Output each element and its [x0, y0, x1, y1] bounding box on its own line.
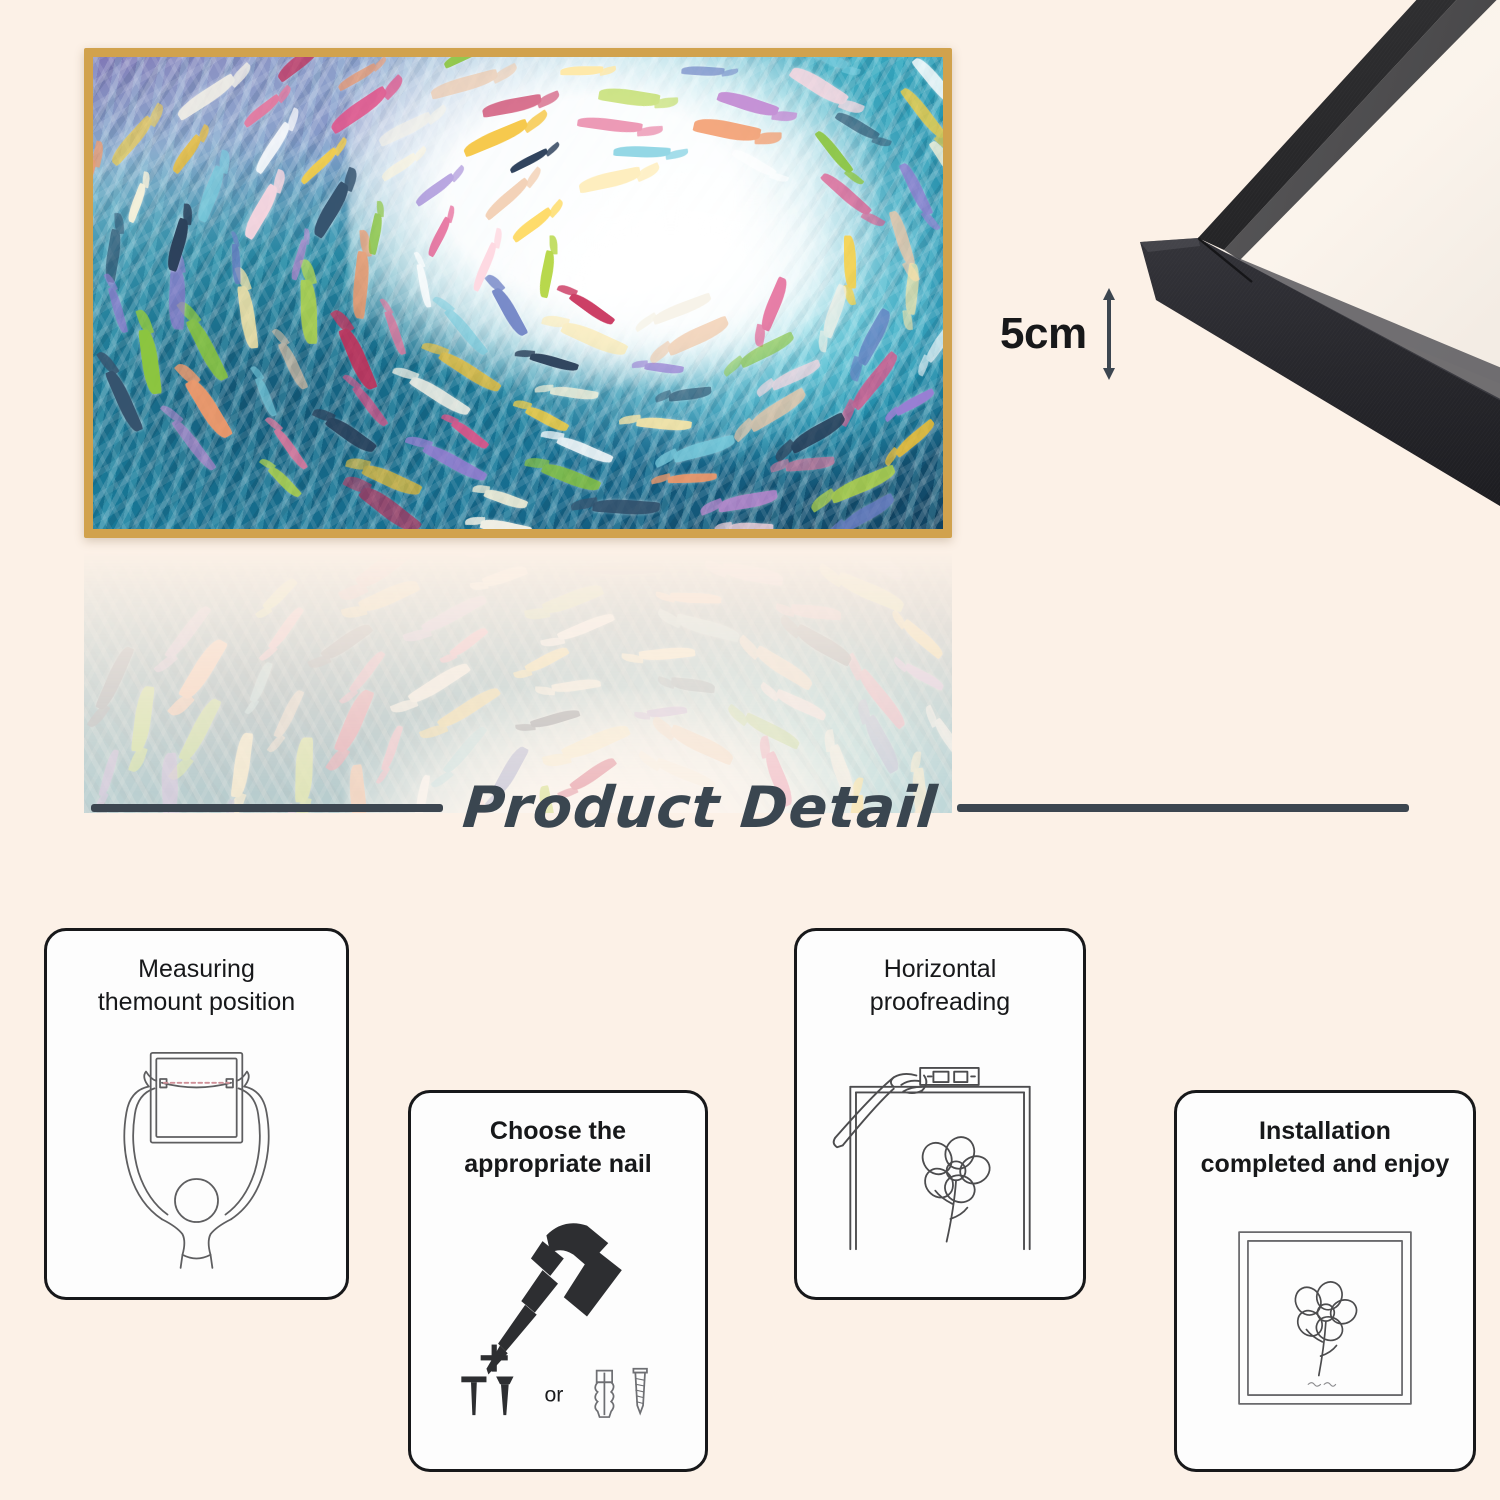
- product-detail-heading-row: Product Detail: [0, 768, 1500, 848]
- painted-fish: [728, 522, 773, 536]
- black-wood-frame-corner-photo: [1140, 0, 1500, 590]
- hammer-and-nails-icon: or: [442, 1216, 674, 1419]
- card-title-installed: Installation completed and enjoy: [1201, 1115, 1450, 1180]
- svg-text:or: or: [544, 1383, 563, 1407]
- card-figure-level: [811, 1018, 1069, 1283]
- painted-fish: [688, 48, 729, 53]
- painted-fish: [554, 48, 619, 54]
- page-title: Product Detail: [460, 775, 940, 841]
- hand-with-spirit-level-icon: [822, 1047, 1058, 1255]
- painting-artwork: [93, 57, 943, 529]
- painted-fish: [168, 268, 187, 329]
- instruction-card-nail: Choose the appropriate nail: [408, 1090, 708, 1472]
- card-figure-nail: or: [425, 1180, 691, 1455]
- painted-fish: [858, 48, 911, 54]
- painted-fish: [844, 236, 856, 289]
- instruction-card-measuring: Measuring themount position: [44, 928, 349, 1300]
- heading-divider-right: [957, 804, 1409, 812]
- frame-depth-dimension: 5cm: [1000, 288, 1117, 380]
- card-title-measuring: Measuring themount position: [98, 953, 295, 1018]
- heading-divider-left: [91, 804, 443, 812]
- painted-fish: [84, 317, 86, 384]
- instruction-card-installed: Installation completed and enjoy: [1174, 1090, 1476, 1472]
- person-holding-frame-measuring-icon: [89, 1033, 304, 1269]
- instruction-card-level: Horizontal proofreading: [794, 928, 1086, 1300]
- hero-framed-painting: [84, 48, 952, 538]
- framed-flower-on-wall-icon: [1232, 1225, 1418, 1411]
- card-figure-measuring: [61, 1018, 332, 1283]
- card-figure-installed: [1191, 1180, 1459, 1455]
- card-title-nail: Choose the appropriate nail: [464, 1115, 652, 1180]
- dimension-label: 5cm: [1000, 309, 1087, 359]
- double-headed-vertical-arrow-icon: [1101, 288, 1117, 380]
- card-title-level: Horizontal proofreading: [870, 953, 1010, 1018]
